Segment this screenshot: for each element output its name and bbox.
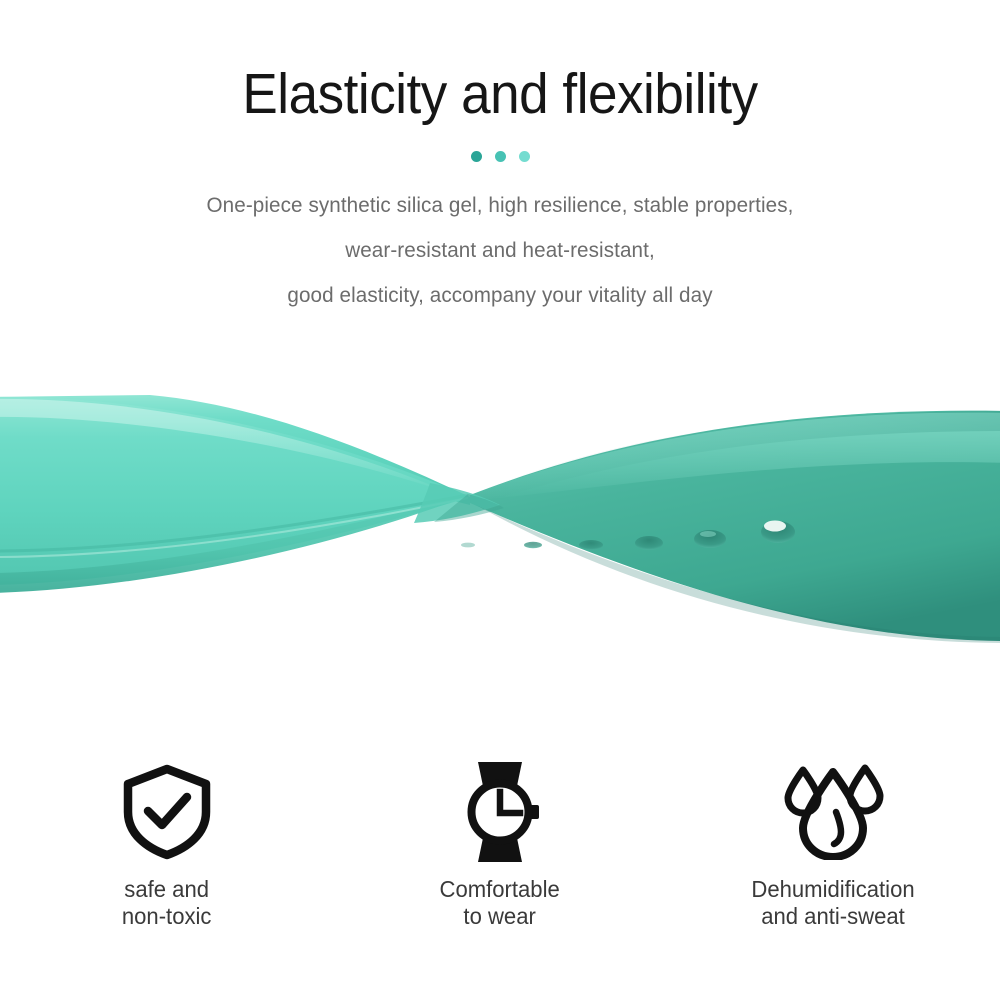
description-line-2: wear-resistant and heat-resistant, xyxy=(87,228,913,273)
water-drops-icon xyxy=(781,762,885,862)
header-block: Elasticity and flexibility One-piece syn… xyxy=(0,0,1000,318)
band-left-dimple xyxy=(461,543,475,548)
feature-row: safe and non-toxic Comfortable to we xyxy=(0,762,1000,952)
strap-hole-4-highlight xyxy=(700,531,716,537)
accent-dots xyxy=(455,150,545,164)
accent-dot-3 xyxy=(519,151,530,162)
feature-dehumidification: Dehumidification and anti-sweat xyxy=(667,762,1000,930)
accent-dot-1 xyxy=(471,151,482,162)
shield-check-icon xyxy=(121,762,213,862)
feature-label-dehumidification: Dehumidification and anti-sweat xyxy=(752,876,915,930)
strap-hole-1 xyxy=(524,542,542,548)
feature-label-comfortable-to-wear: Comfortable to wear xyxy=(440,876,560,930)
wristwatch-icon xyxy=(454,762,546,862)
description-block: One-piece synthetic silica gel, high res… xyxy=(70,183,930,318)
description-line-3: good elasticity, accompany your vitality… xyxy=(87,273,913,318)
accent-dot-2 xyxy=(495,151,506,162)
twisted-band-illustration xyxy=(0,345,1000,720)
product-photo xyxy=(0,345,1000,720)
strap-hole-5-highlight xyxy=(764,521,786,532)
strap-hole-3 xyxy=(635,536,663,550)
page-title: Elasticity and flexibility xyxy=(35,0,965,128)
feature-label-safe-non-toxic: safe and non-toxic xyxy=(122,876,212,930)
strap-hole-2 xyxy=(579,540,603,550)
feature-comfortable-to-wear: Comfortable to wear xyxy=(333,762,666,930)
feature-safe-non-toxic: safe and non-toxic xyxy=(0,762,333,930)
product-feature-page: Elasticity and flexibility One-piece syn… xyxy=(0,0,1000,1000)
description-line-1: One-piece synthetic silica gel, high res… xyxy=(87,183,913,228)
